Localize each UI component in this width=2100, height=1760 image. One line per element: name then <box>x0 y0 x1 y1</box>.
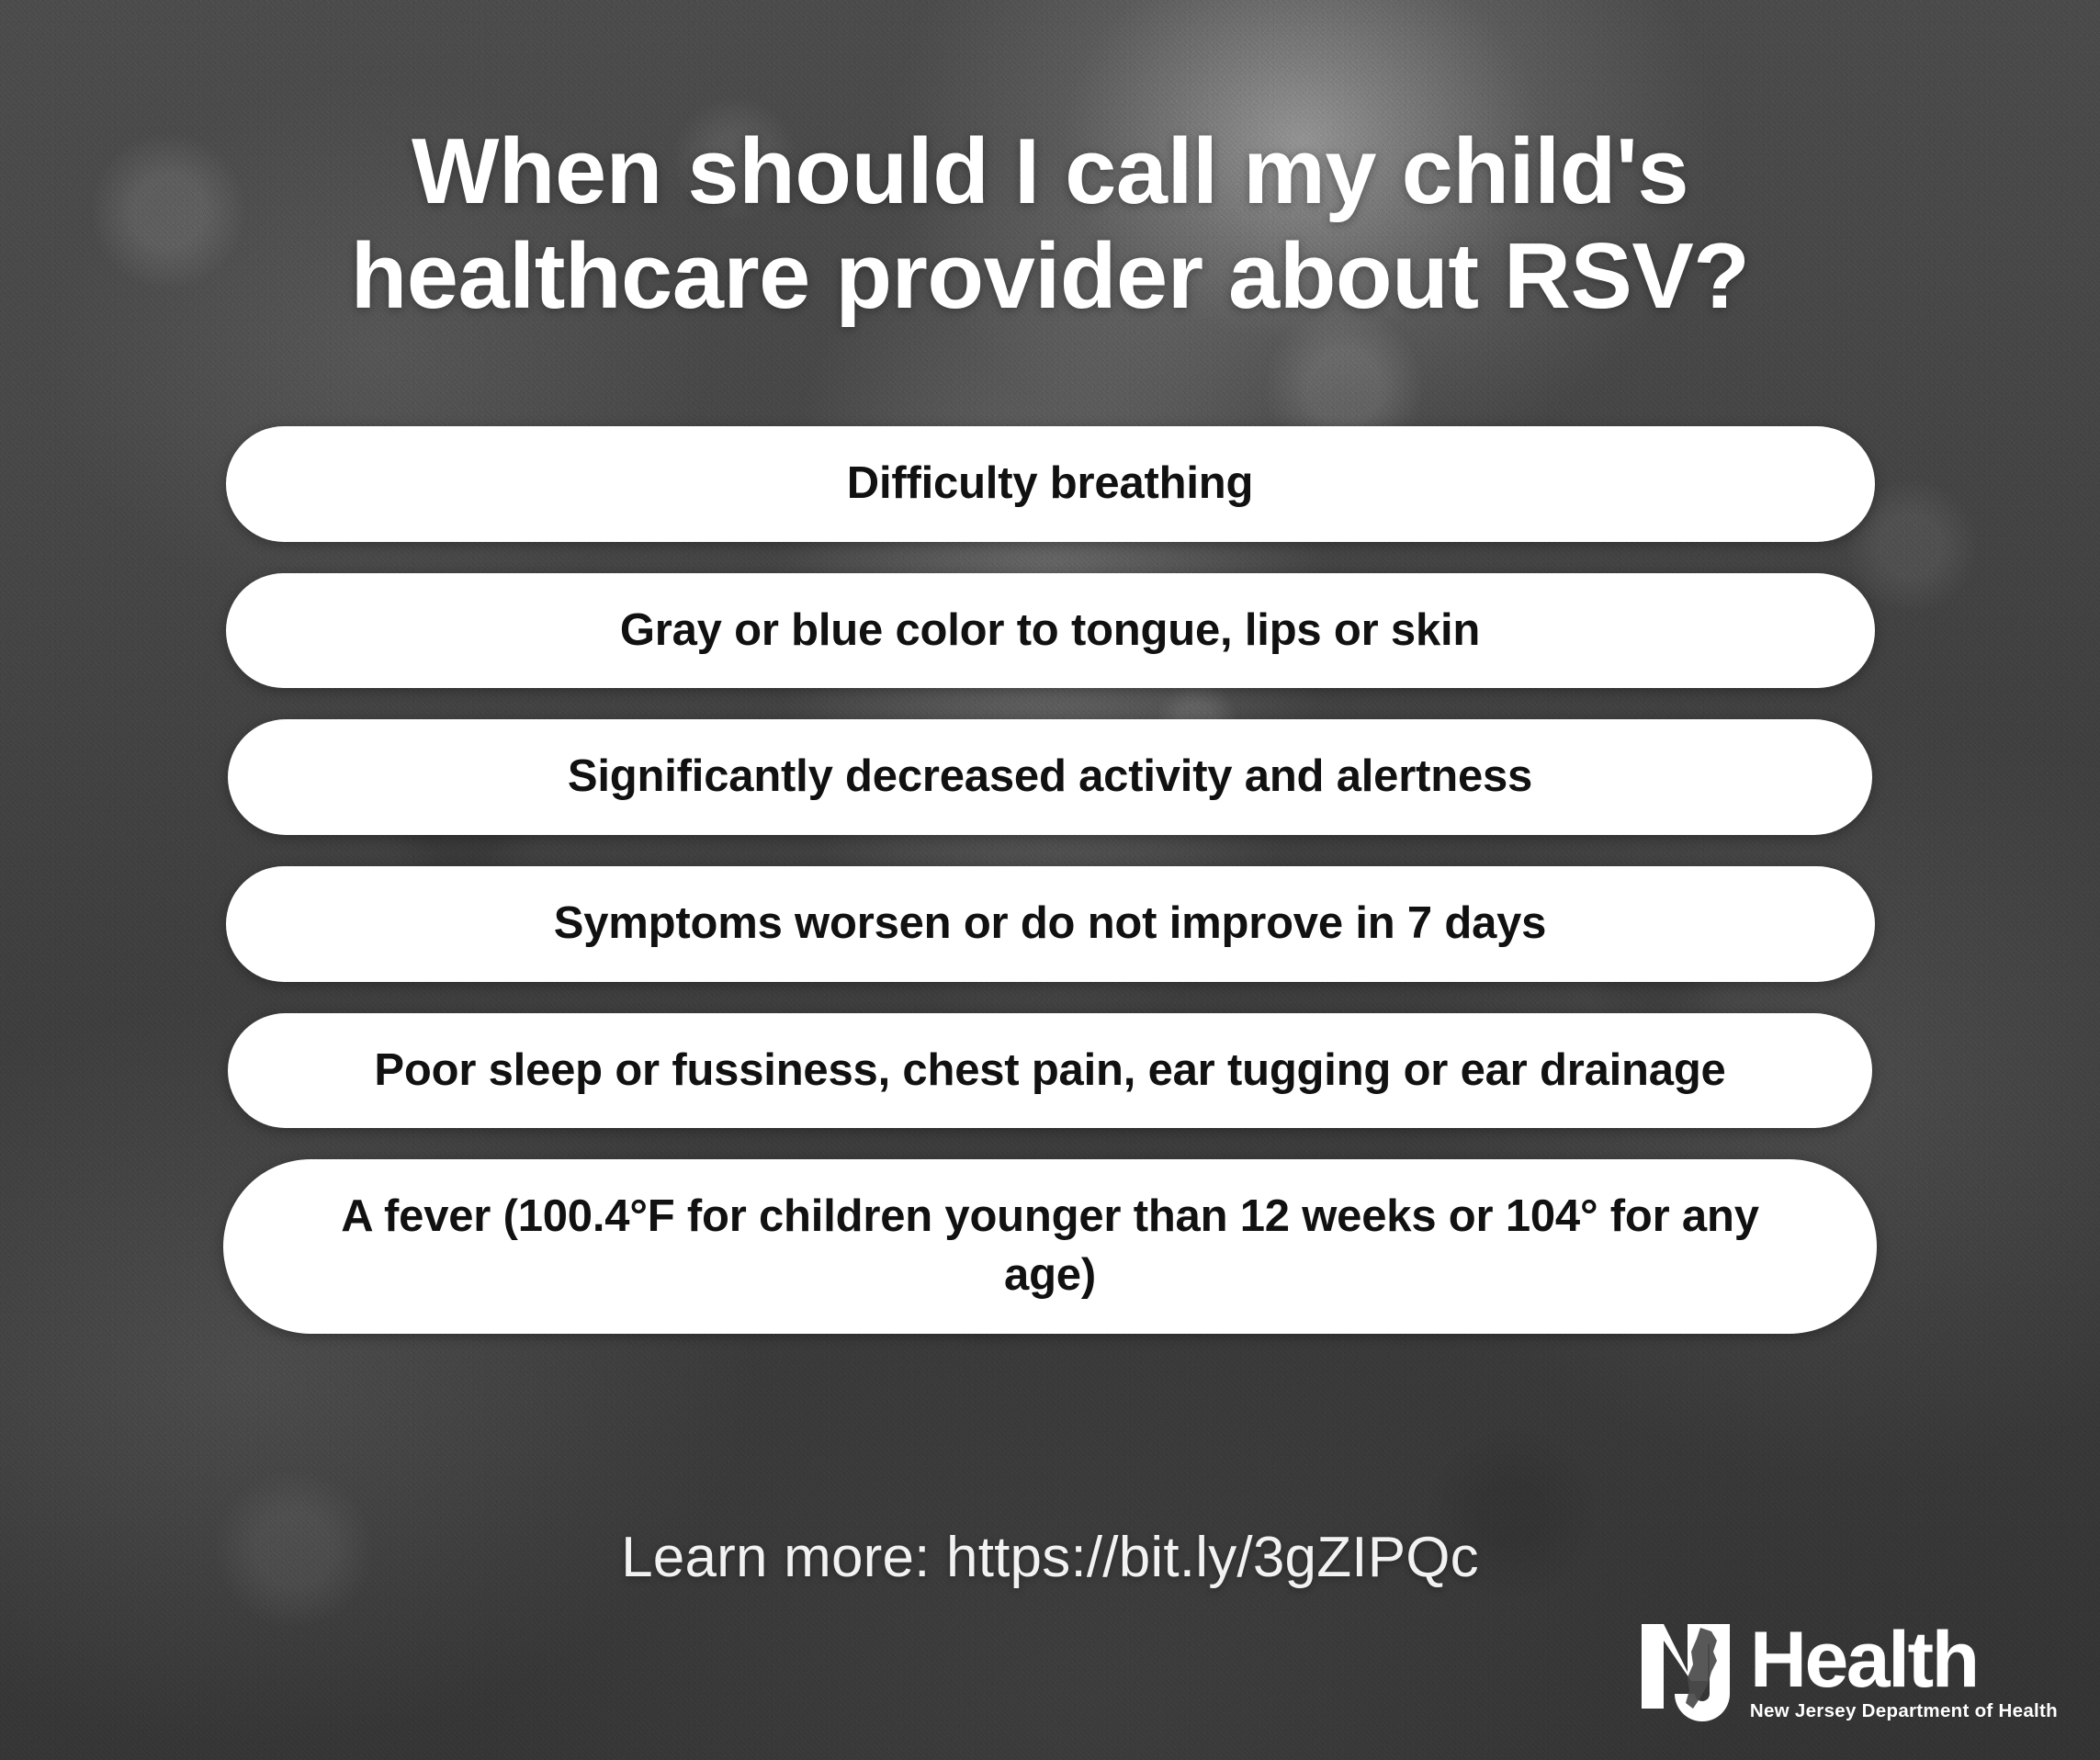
page-title: When should I call my child's healthcare… <box>0 119 2100 329</box>
learn-more-link[interactable]: Learn more: https://bit.ly/3gZIPQc <box>0 1525 2100 1590</box>
poster-content: When should I call my child's healthcare… <box>0 0 2100 1760</box>
nj-health-logo: Health New Jersey Department of Health <box>1640 1624 2058 1729</box>
list-item: Symptoms worsen or do not improve in 7 d… <box>226 866 1875 982</box>
list-item: Difficulty breathing <box>226 426 1875 542</box>
list-item: Gray or blue color to tongue, lips or sk… <box>226 573 1875 689</box>
rsv-infographic-poster: When should I call my child's healthcare… <box>0 0 2100 1760</box>
symptom-list: Difficulty breathing Gray or blue color … <box>0 426 2100 1334</box>
logo-text-block: Health New Jersey Department of Health <box>1750 1626 2058 1722</box>
page-title-line-1: When should I call my child's <box>412 120 1688 223</box>
list-item: Poor sleep or fussiness, chest pain, ear… <box>228 1013 1872 1129</box>
logo-tagline: New Jersey Department of Health <box>1750 1700 2058 1722</box>
nj-monogram-icon <box>1640 1620 1746 1729</box>
list-item: Significantly decreased activity and ale… <box>228 719 1872 835</box>
logo-wordmark: Health <box>1750 1626 1978 1696</box>
list-item: A fever (100.4°F for children younger th… <box>223 1159 1877 1333</box>
page-title-line-2: healthcare provider about RSV? <box>351 225 1750 328</box>
